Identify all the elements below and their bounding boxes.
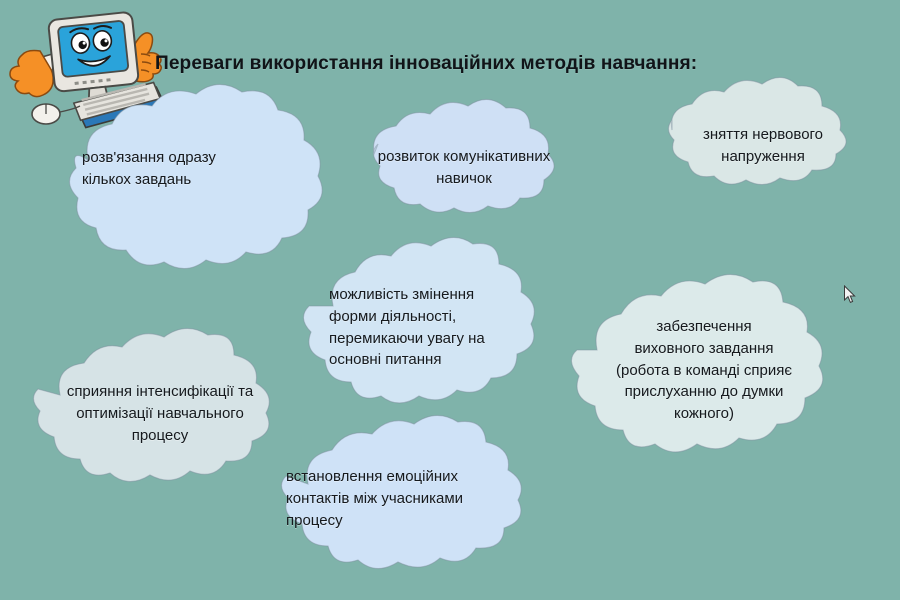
- cloud-line: сприяння інтенсифікації та: [10, 381, 310, 403]
- cloud-line: кожного): [545, 403, 863, 425]
- cloud-line: розвиток комунікативних: [330, 146, 598, 168]
- cloud-line: виховного завдання: [545, 338, 863, 360]
- cloud-line: основні питання: [329, 349, 573, 371]
- cloud-text-1: розв'язання одразу кількох завдань: [30, 147, 342, 191]
- mouse-cursor-icon: [843, 285, 857, 305]
- page-title: Переваги використання інноваційних метод…: [155, 52, 802, 75]
- cloud-line: прислуханню до думки: [545, 381, 863, 403]
- cloud-line: перемикаючи увагу на: [329, 328, 573, 350]
- cloud-line: (робота в команді сприяє: [545, 360, 863, 382]
- cloud-educational-task: забезпечення виховного завдання (робота …: [545, 292, 863, 482]
- cloud-line: розв'язання одразу: [82, 147, 342, 169]
- cloud-line: контактів між учасниками: [286, 488, 564, 510]
- cloud-text-7: встановлення емоційних контактів між уча…: [258, 466, 564, 531]
- cloud-line: зняття нервового: [630, 124, 896, 146]
- slide-canvas: Переваги використання інноваційних метод…: [0, 0, 900, 600]
- cloud-line: можливість змінення: [329, 284, 573, 306]
- cloud-line: форми діяльності,: [329, 306, 573, 328]
- cloud-text-2: розвиток комунікативних навичок: [330, 146, 598, 190]
- cloud-change-activity-form: можливість змінення форми діяльності, пе…: [285, 252, 573, 432]
- cloud-line: навичок: [330, 168, 598, 190]
- cloud-stress-relief: зняття нервового напруження: [630, 88, 896, 206]
- cloud-emotional-contacts: встановлення емоційних контактів між уча…: [258, 432, 564, 597]
- cloud-communication-skills: розвиток комунікативних навичок: [330, 110, 598, 235]
- cloud-text-4: можливість змінення форми діяльності, пе…: [285, 284, 573, 371]
- cloud-line: оптимізації навчального: [10, 403, 310, 425]
- cloud-line: процесу: [286, 510, 564, 532]
- cloud-text-5: забезпечення виховного завдання (робота …: [545, 316, 863, 425]
- cloud-text-3: зняття нервового напруження: [630, 124, 896, 168]
- cloud-line: напруження: [630, 146, 896, 168]
- cloud-line: кількох завдань: [82, 169, 342, 191]
- cloud-line: забезпечення: [545, 316, 863, 338]
- cloud-line: встановлення емоційних: [286, 466, 564, 488]
